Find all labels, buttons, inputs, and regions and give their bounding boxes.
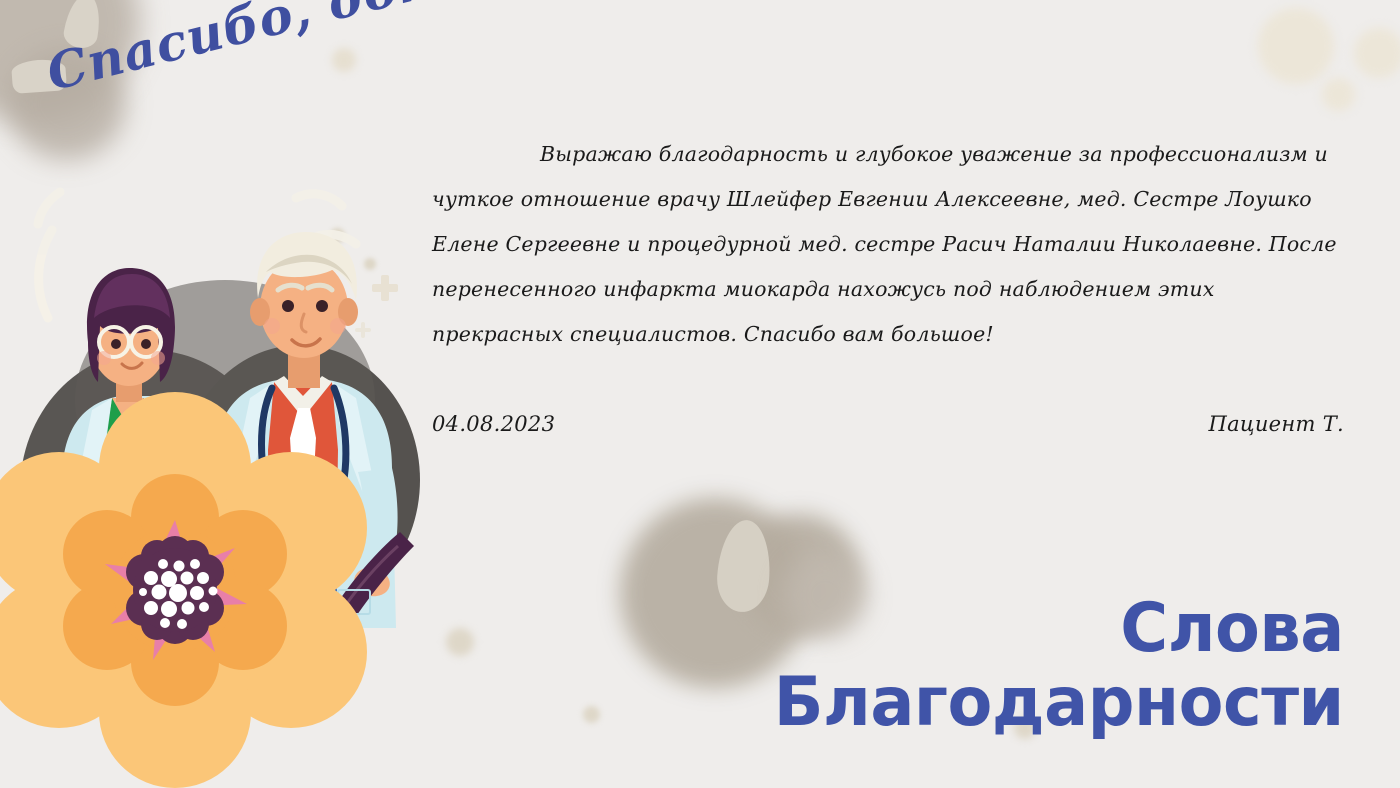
letter-signature: Пациент Т. bbox=[1208, 412, 1344, 436]
letter-footer: 04.08.2023 Пациент Т. bbox=[432, 412, 1344, 436]
background-blob-top-right-medium bbox=[1354, 28, 1400, 78]
background-blob-top-right-large bbox=[1258, 8, 1334, 84]
slide-heading: Слова Благодарности bbox=[750, 592, 1344, 740]
background-dot-2 bbox=[583, 706, 600, 723]
heading-line-2: Благодарности bbox=[774, 666, 1344, 740]
thank-you-slide: Спасибо, доктор! bbox=[0, 0, 1400, 788]
heading-line-1: Слова bbox=[774, 592, 1344, 666]
letter-body-text: Выражаю благодарность и глубокое уважени… bbox=[432, 132, 1344, 357]
gratitude-letter: Выражаю благодарность и глубокое уважени… bbox=[432, 132, 1344, 357]
background-blob-top-right-small bbox=[1322, 78, 1355, 111]
script-title: Спасибо, доктор! bbox=[41, 0, 580, 102]
doctors-flower-illustration bbox=[0, 150, 470, 788]
letter-date: 04.08.2023 bbox=[432, 412, 555, 436]
background-dot-6 bbox=[332, 48, 356, 72]
